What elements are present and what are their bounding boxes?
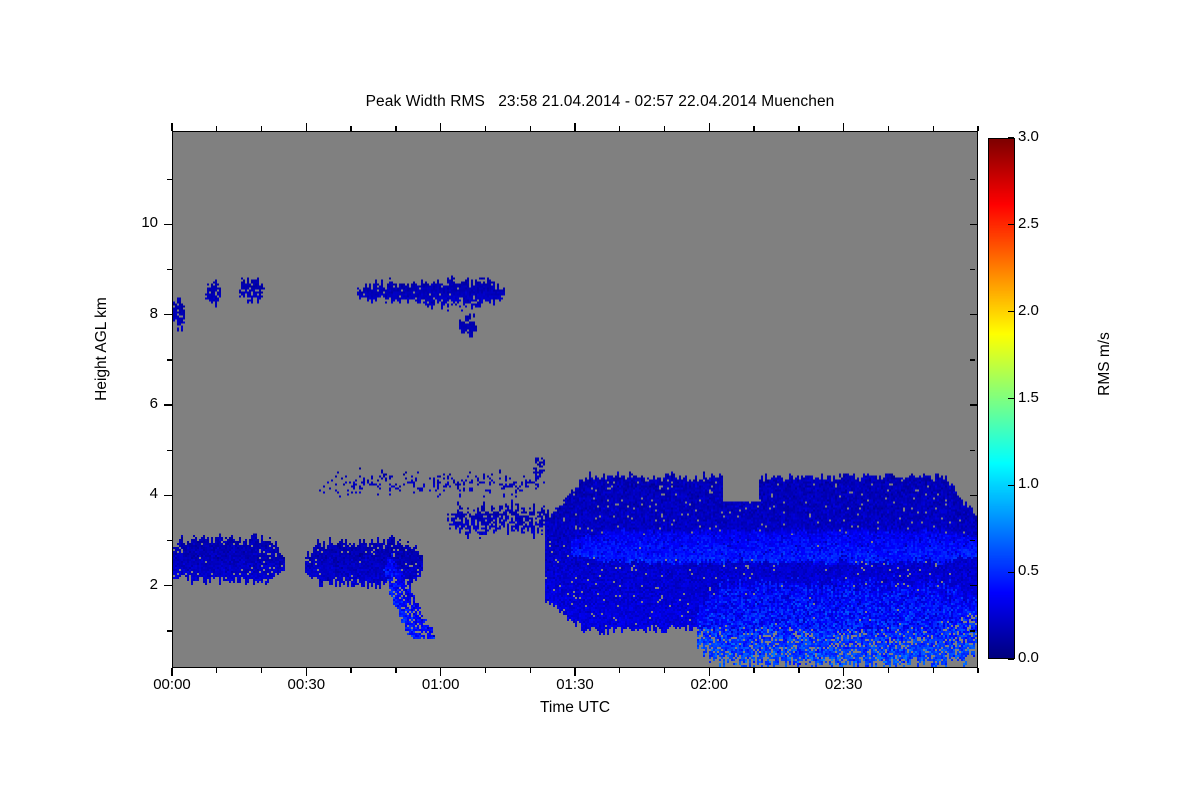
x-tick-minor: [619, 668, 620, 673]
y-tick-label: 4: [114, 485, 158, 502]
colorbar-tick-label: 2.0: [1018, 302, 1068, 319]
heatmap-canvas: [173, 132, 978, 668]
x-tick-minor: [530, 126, 531, 131]
y-tick-minor: [167, 540, 172, 541]
x-tick-minor: [933, 668, 934, 673]
x-tick-minor: [395, 668, 396, 673]
x-tick-minor: [798, 668, 799, 673]
x-tick-minor: [216, 126, 217, 131]
x-tick-minor: [664, 668, 665, 673]
chart-title: Peak Width RMS 23:58 21.04.2014 - 02:57 …: [0, 93, 1200, 111]
y-tick: [970, 495, 978, 496]
y-tick-minor: [970, 179, 975, 180]
x-tick-minor: [216, 668, 217, 673]
y-axis-label: Height AGL km: [93, 239, 111, 459]
y-tick-minor: [167, 450, 172, 451]
y-tick-minor: [970, 269, 975, 270]
y-tick: [970, 314, 978, 315]
x-tick-minor: [619, 126, 620, 131]
colorbar-tick: [1008, 658, 1014, 659]
y-tick-minor: [167, 630, 172, 631]
y-tick-label: 2: [114, 576, 158, 593]
y-tick: [164, 495, 172, 496]
y-tick-label: 8: [114, 305, 158, 322]
x-tick-minor: [261, 668, 262, 673]
y-tick-minor: [970, 450, 975, 451]
y-tick-minor: [167, 179, 172, 180]
y-tick-minor: [167, 269, 172, 270]
colorbar-tick: [1008, 224, 1014, 225]
x-tick-label: 00:30: [266, 676, 346, 693]
x-tick-label: 02:00: [669, 676, 749, 693]
y-tick: [164, 224, 172, 225]
y-tick-minor: [970, 630, 975, 631]
x-tick: [574, 668, 575, 676]
x-tick-minor: [261, 126, 262, 131]
x-tick-minor: [530, 668, 531, 673]
x-tick-minor: [798, 126, 799, 131]
x-tick-minor: [395, 126, 396, 131]
colorbar-label: RMS m/s: [1096, 264, 1114, 464]
x-tick: [306, 668, 307, 676]
y-tick-minor: [970, 540, 975, 541]
colorbar-tick: [1008, 398, 1014, 399]
x-tick-label: 01:00: [401, 676, 481, 693]
chart-figure: Peak Width RMS 23:58 21.04.2014 - 02:57 …: [0, 0, 1200, 800]
colorbar-tick-label: 3.0: [1018, 128, 1068, 145]
x-tick: [440, 123, 441, 131]
colorbar-tick: [1008, 485, 1014, 486]
x-tick: [171, 668, 172, 676]
colorbar-tick-label: 2.5: [1018, 215, 1068, 232]
y-tick-minor: [167, 359, 172, 360]
x-tick-minor: [977, 668, 978, 673]
x-axis-label: Time UTC: [172, 699, 978, 717]
y-tick-minor: [970, 359, 975, 360]
x-tick-minor: [485, 668, 486, 673]
colorbar-tick-label: 1.5: [1018, 389, 1068, 406]
y-tick: [970, 224, 978, 225]
y-tick-label: 6: [114, 395, 158, 412]
colorbar-tick-label: 0.5: [1018, 562, 1068, 579]
x-tick-label: 01:30: [535, 676, 615, 693]
x-tick: [709, 123, 710, 131]
colorbar-tick: [1008, 572, 1014, 573]
colorbar-tick-label: 0.0: [1018, 649, 1068, 666]
x-tick-minor: [485, 126, 486, 131]
y-tick: [164, 314, 172, 315]
x-tick-minor: [888, 668, 889, 673]
x-tick-label: 00:00: [132, 676, 212, 693]
y-tick: [164, 404, 172, 405]
x-tick: [843, 123, 844, 131]
x-tick: [574, 123, 575, 131]
x-tick-minor: [664, 126, 665, 131]
y-tick: [970, 404, 978, 405]
colorbar-tick: [1008, 137, 1014, 138]
colorbar-tick: [1008, 311, 1014, 312]
x-tick-minor: [977, 126, 978, 131]
x-tick: [440, 668, 441, 676]
x-tick-minor: [933, 126, 934, 131]
x-tick: [306, 123, 307, 131]
y-tick: [164, 585, 172, 586]
x-tick-minor: [753, 668, 754, 673]
plot-area[interactable]: [172, 131, 978, 668]
x-tick: [709, 668, 710, 676]
x-tick-label: 02:30: [804, 676, 884, 693]
x-tick: [171, 123, 172, 131]
x-tick-minor: [350, 126, 351, 131]
x-tick-minor: [350, 668, 351, 673]
y-tick-label: 10: [114, 214, 158, 231]
y-tick: [970, 585, 978, 586]
colorbar-tick-label: 1.0: [1018, 475, 1068, 492]
x-tick: [843, 668, 844, 676]
x-tick-minor: [753, 126, 754, 131]
x-tick-minor: [888, 126, 889, 131]
